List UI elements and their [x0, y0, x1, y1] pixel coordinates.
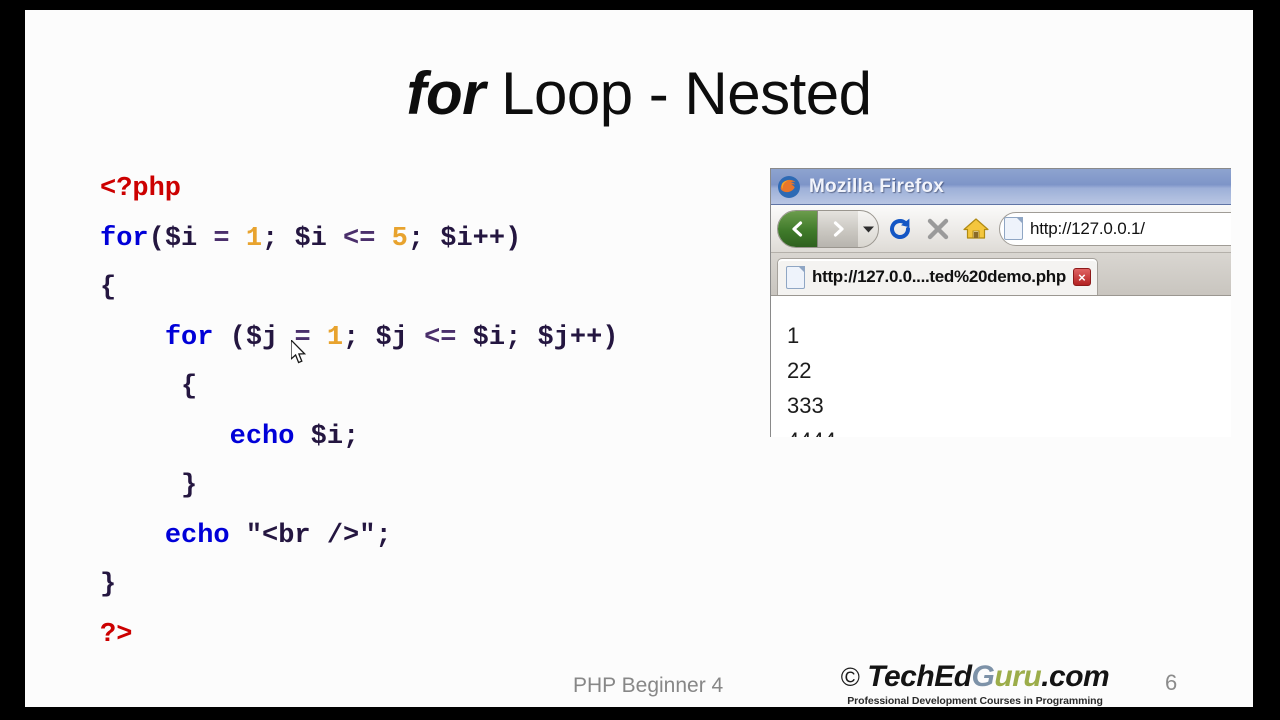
- output-line: 1: [787, 318, 1253, 353]
- page-favicon-icon: [1004, 217, 1023, 240]
- stop-button[interactable]: [919, 211, 957, 247]
- code-token-punc: ;: [375, 521, 391, 551]
- code-token-var: $i: [294, 224, 326, 254]
- output-line: 4444: [787, 423, 1253, 458]
- back-forward-group: [777, 210, 879, 248]
- presentation-slide: for Loop - Nested <?phpfor($i = 1; $i <=…: [25, 10, 1253, 707]
- back-button[interactable]: [778, 210, 818, 248]
- code-token-num: 1: [246, 224, 262, 254]
- code-token-plain: [197, 224, 213, 254]
- code-token-plain: [294, 422, 310, 452]
- firefox-titlebar: Mozilla Firefox: [771, 169, 1253, 205]
- code-token-var: $j: [375, 323, 407, 353]
- code-line: for($i = 1; $i <= 5; $i++): [100, 215, 760, 265]
- code-line: for ($j = 1; $j <= $i; $j++): [100, 314, 760, 364]
- brand-logo: © TechEdGuru.com Professional Developmen…: [810, 660, 1140, 707]
- code-line: }: [100, 462, 760, 512]
- code-token-var: $i: [311, 422, 343, 452]
- brand-part-com: .com: [1041, 660, 1109, 693]
- code-line: {: [100, 264, 760, 314]
- reload-icon: [887, 216, 913, 242]
- code-token-kw: echo: [165, 521, 230, 551]
- reload-button[interactable]: [881, 211, 919, 247]
- code-token-var: $j: [246, 323, 278, 353]
- forward-button[interactable]: [818, 210, 858, 248]
- home-icon: [963, 217, 989, 241]
- code-line: }: [100, 561, 760, 611]
- code-token-num: 5: [392, 224, 408, 254]
- php-output: 122333444455555: [787, 318, 1253, 493]
- code-token-punc: {: [100, 273, 116, 303]
- page-title: for Loop - Nested: [25, 62, 1253, 125]
- url-bar[interactable]: http://127.0.0.1/: [999, 212, 1253, 246]
- code-token-var: $j++: [537, 323, 602, 353]
- tab-label: http://127.0.0....ted%20demo.php: [812, 267, 1066, 287]
- code-token-plain: [375, 224, 391, 254]
- code-token-plain: [521, 323, 537, 353]
- code-line: echo "<br />";: [100, 512, 760, 562]
- firefox-window-title: Mozilla Firefox: [809, 176, 944, 198]
- code-token-php: <?php: [100, 174, 181, 204]
- code-token-kw: echo: [230, 422, 295, 452]
- slide-stage: for Loop - Nested <?phpfor($i = 1; $i <=…: [0, 0, 1280, 720]
- code-token-punc: ;: [505, 323, 521, 353]
- code-token-plain: [424, 224, 440, 254]
- code-token-plain: [456, 323, 472, 353]
- code-token-punc: ;: [343, 323, 359, 353]
- browser-tab[interactable]: http://127.0.0....ted%20demo.php ×: [777, 258, 1098, 295]
- chevron-down-icon: [863, 225, 874, 233]
- firefox-tab-bar: http://127.0.0....ted%20demo.php ×: [771, 253, 1253, 295]
- url-text: http://127.0.0.1/: [1030, 219, 1145, 239]
- output-line: 55555: [787, 458, 1253, 493]
- history-dropdown-button[interactable]: [858, 210, 878, 248]
- code-line: {: [100, 363, 760, 413]
- code-token-kw: for: [165, 323, 214, 353]
- brand-part-teched: TechEd: [867, 660, 971, 693]
- code-line: echo $i;: [100, 413, 760, 463]
- close-x-icon: [926, 217, 950, 241]
- code-token-op: =: [213, 224, 229, 254]
- code-token-num: 1: [327, 323, 343, 353]
- code-token-plain: [327, 224, 343, 254]
- title-keyword: for: [406, 60, 484, 127]
- brand-wordmark: © TechEdGuru.com: [810, 660, 1140, 694]
- browser-content-area: 122333444455555: [771, 295, 1253, 578]
- code-token-punc: ): [602, 323, 618, 353]
- code-token-op: <=: [343, 224, 375, 254]
- copyright-symbol: ©: [841, 662, 860, 692]
- code-token-plain: [311, 323, 327, 353]
- code-token-punc: (: [230, 323, 246, 353]
- php-code-block: <?phpfor($i = 1; $i <= 5; $i++){ for ($j…: [100, 165, 760, 660]
- code-token-plain: [230, 224, 246, 254]
- code-token-plain: [230, 521, 246, 551]
- tab-close-button[interactable]: ×: [1073, 268, 1091, 286]
- code-token-plain: [408, 323, 424, 353]
- code-token-var: $i: [165, 224, 197, 254]
- code-token-punc: {: [165, 372, 197, 402]
- course-label: PHP Beginner 4: [573, 674, 723, 698]
- code-token-kw: for: [100, 224, 149, 254]
- page-number: 6: [1165, 670, 1177, 696]
- firefox-window[interactable]: Mozilla Firefox: [770, 168, 1253, 578]
- code-token-plain: [359, 323, 375, 353]
- firefox-navigation-toolbar: http://127.0.0.1/: [771, 205, 1253, 253]
- brand-part-uru: uru: [994, 660, 1041, 693]
- code-token-punc: ;: [262, 224, 278, 254]
- code-line: <?php: [100, 165, 760, 215]
- code-token-punc: }: [100, 570, 116, 600]
- brand-part-g: G: [972, 660, 995, 693]
- code-token-punc: ): [505, 224, 521, 254]
- code-token-punc: ;: [343, 422, 359, 452]
- title-rest: Loop - Nested: [485, 60, 872, 127]
- code-token-var: $i++: [440, 224, 505, 254]
- home-button[interactable]: [957, 211, 995, 247]
- code-token-plain: [278, 224, 294, 254]
- code-token-punc: ;: [408, 224, 424, 254]
- output-line: 22: [787, 353, 1253, 388]
- code-token-var: $i: [473, 323, 505, 353]
- code-token-op: <=: [424, 323, 456, 353]
- code-token-str: "<br />": [246, 521, 376, 551]
- code-token-php: ?>: [100, 620, 132, 650]
- mouse-cursor-icon: [291, 340, 309, 366]
- code-line: ?>: [100, 611, 760, 661]
- tab-favicon-icon: [786, 266, 805, 289]
- brand-tagline: Professional Development Courses in Prog…: [810, 695, 1140, 707]
- code-token-plain: [213, 323, 229, 353]
- output-line: 333: [787, 388, 1253, 423]
- code-token-punc: (: [149, 224, 165, 254]
- chevron-left-icon: [789, 220, 807, 238]
- firefox-logo-icon: [777, 175, 801, 199]
- code-token-punc: }: [165, 471, 197, 501]
- chevron-right-icon: [829, 220, 847, 238]
